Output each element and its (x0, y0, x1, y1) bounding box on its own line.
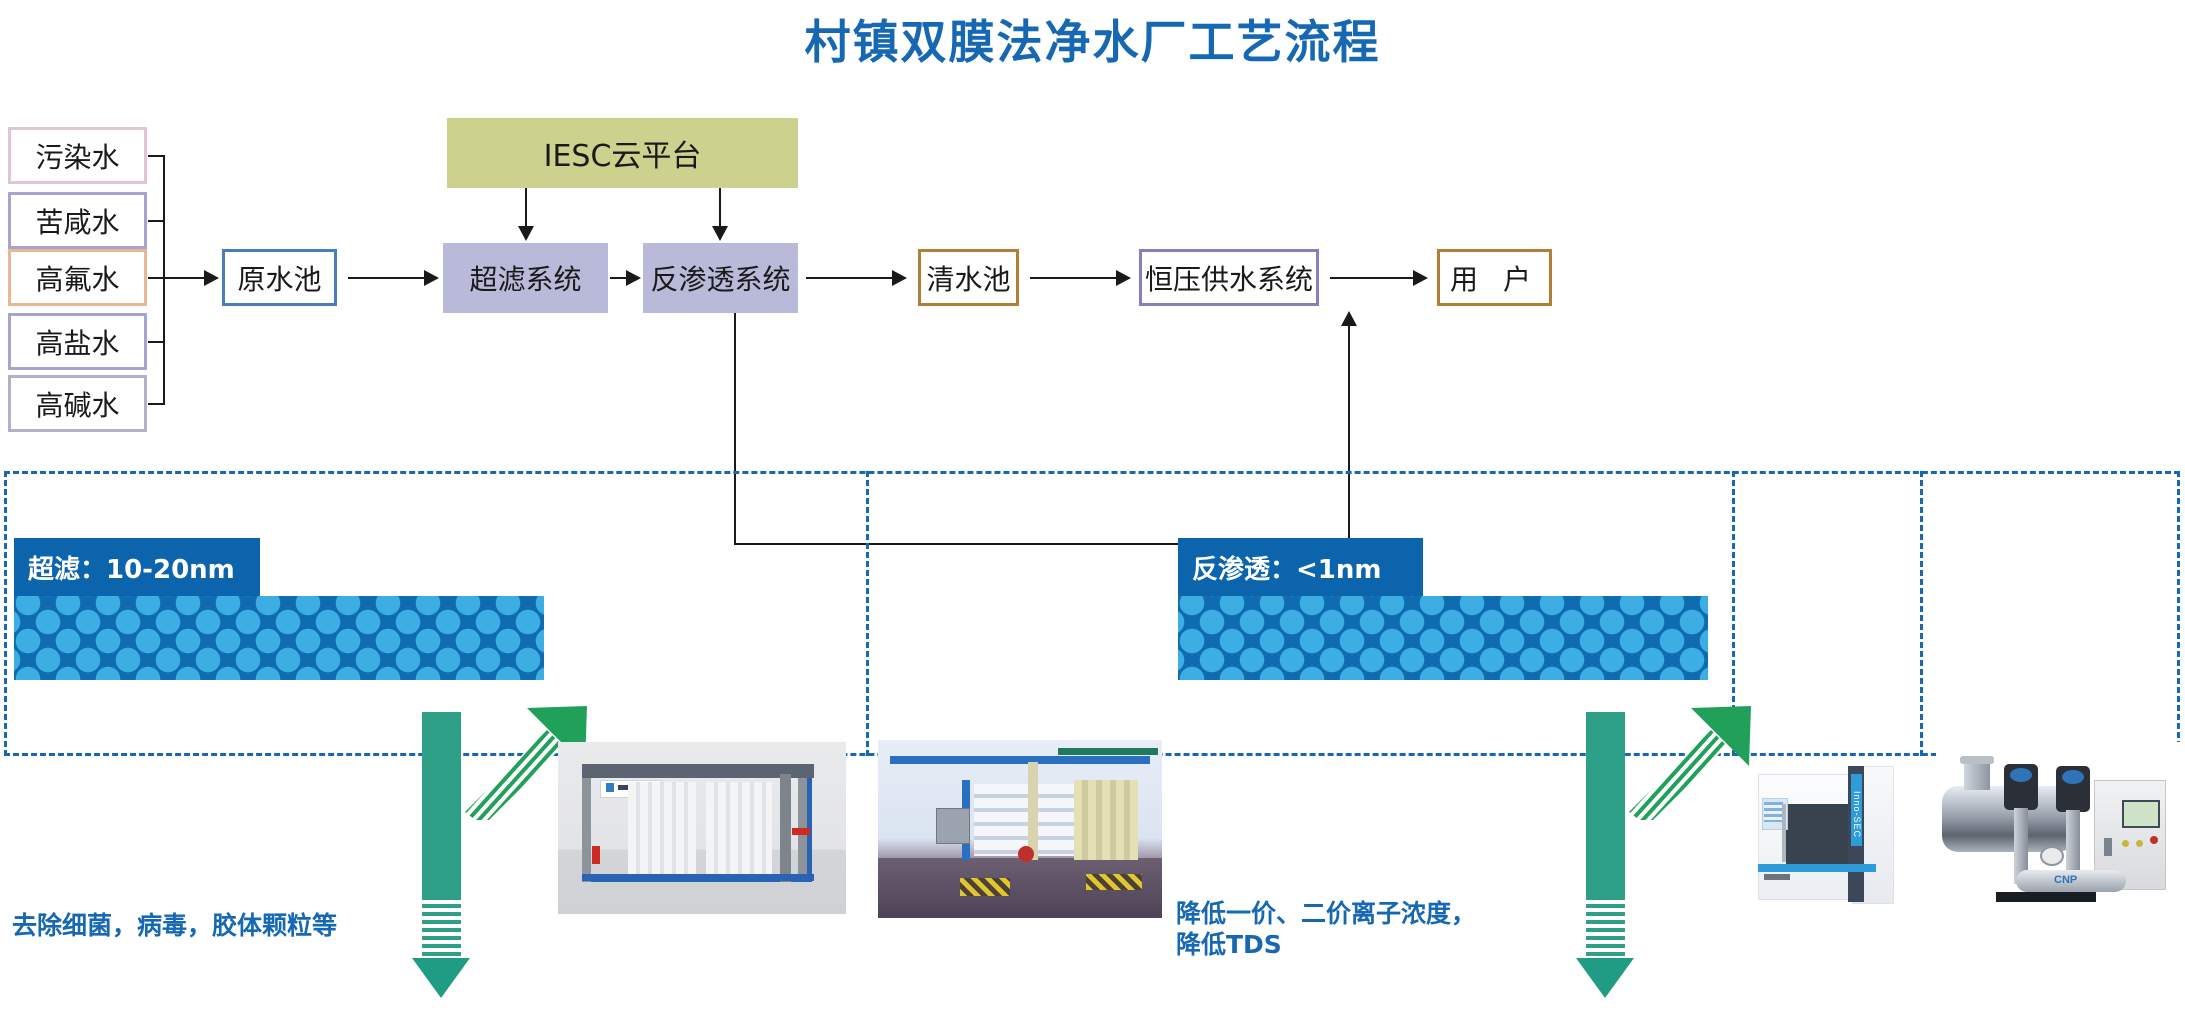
source-box-high-alkaline-water[interactable]: 高碱水 (8, 375, 147, 432)
uf-caption-text: 去除细菌，病毒，胶体颗粒等 (12, 911, 337, 940)
line-clear-to-pressure (1030, 277, 1118, 279)
panel-divider-1 (866, 471, 869, 756)
flow-box-label: 超滤系统 (469, 258, 581, 298)
ro-membrane-band (1178, 596, 1708, 680)
uf-membrane-pores (14, 596, 544, 680)
arrow-cloud-to-ro (712, 226, 728, 241)
inno-sec-control-cabinet-photo: Inno-SEC (1752, 760, 1904, 920)
source-stub-line (148, 220, 164, 222)
reverse-osmosis-plant-photo (878, 740, 1162, 918)
ro-membrane-label: 反渗透：<1nm (1178, 538, 1423, 596)
arrow-uf-to-ro (626, 270, 641, 286)
ro-membrane-pores (1178, 596, 1708, 680)
arrow-to-raw-tank (204, 270, 219, 286)
flow-box-label: 原水池 (237, 258, 321, 298)
flow-box-iesc-cloud-platform[interactable]: IESC云平台 (447, 118, 798, 188)
ro-reject-arrow (1619, 700, 1759, 820)
flow-box-constant-pressure-supply-system[interactable]: 恒压供水系统 (1139, 249, 1319, 306)
flow-box-label: 恒压供水系统 (1145, 258, 1313, 298)
flow-box-label: IESC云平台 (544, 131, 702, 175)
flow-box-clear-water-tank[interactable]: 清水池 (918, 249, 1019, 306)
source-box-brackish-water[interactable]: 苦咸水 (8, 192, 147, 249)
source-stub-line (148, 341, 164, 343)
line-raw-to-uf (348, 277, 426, 279)
pump-brand-text: CNP (2054, 874, 2077, 886)
panel-divider-3 (1920, 471, 1923, 756)
source-label: 苦咸水 (35, 201, 119, 241)
line-pressure-to-user (1330, 277, 1415, 279)
source-stub-line (148, 277, 206, 279)
line-cloud-to-uf (525, 188, 527, 228)
flow-box-label: 用 户 (1450, 258, 1539, 298)
arrow-bypass-to-clear-tank (1341, 311, 1357, 326)
source-label: 污染水 (35, 136, 119, 176)
source-collector-bus-line (163, 155, 165, 405)
line-ro-to-clear-tank (806, 277, 894, 279)
source-box-high-salt-water[interactable]: 高盐水 (8, 313, 147, 370)
cabinet-brand-text: Inno-SEC (1848, 780, 1862, 850)
source-box-high-fluoride-water[interactable]: 高氟水 (8, 249, 147, 306)
line-cloud-to-ro (719, 188, 721, 228)
source-label: 高氟水 (35, 258, 119, 298)
flow-box-user[interactable]: 用 户 (1437, 249, 1552, 306)
ro-membrane-label-text: 反渗透：<1nm (1192, 549, 1381, 586)
uf-membrane-band (14, 596, 544, 680)
source-stub-line (148, 403, 164, 405)
ro-caption-line1: 降低一价、二价离子浓度， (1176, 898, 1596, 929)
arrow-pressure-to-user (1413, 270, 1428, 286)
uf-membrane-label: 超滤：10-20nm (14, 538, 260, 596)
flow-box-ultrafiltration-system[interactable]: 超滤系统 (443, 243, 608, 313)
page-title: 村镇双膜法净水厂工艺流程 (0, 6, 2185, 72)
constant-pressure-pump-station-photo: CNP (1936, 742, 2180, 932)
flow-box-label: 反渗透系统 (650, 258, 790, 298)
uf-membrane-label-text: 超滤：10-20nm (28, 549, 235, 586)
flow-box-reverse-osmosis-system[interactable]: 反渗透系统 (643, 243, 798, 313)
flow-box-raw-water-tank[interactable]: 原水池 (222, 249, 337, 306)
flow-box-label: 清水池 (926, 258, 1010, 298)
ultrafiltration-membrane-skid-photo (558, 742, 846, 914)
source-stub-line (148, 155, 164, 157)
ro-caption-line2: 降低TDS (1176, 929, 1596, 960)
source-label: 高盐水 (35, 322, 119, 362)
source-label: 高碱水 (35, 384, 119, 424)
arrow-cloud-to-uf (518, 226, 534, 241)
uf-caption: 去除细菌，病毒，胶体颗粒等 (12, 910, 432, 941)
arrow-ro-to-clear-tank (892, 270, 907, 286)
ro-caption: 降低一价、二价离子浓度， 降低TDS (1176, 898, 1596, 961)
arrow-raw-to-uf (424, 270, 439, 286)
source-box-polluted-water[interactable]: 污染水 (8, 127, 147, 184)
arrow-clear-to-pressure (1116, 270, 1131, 286)
